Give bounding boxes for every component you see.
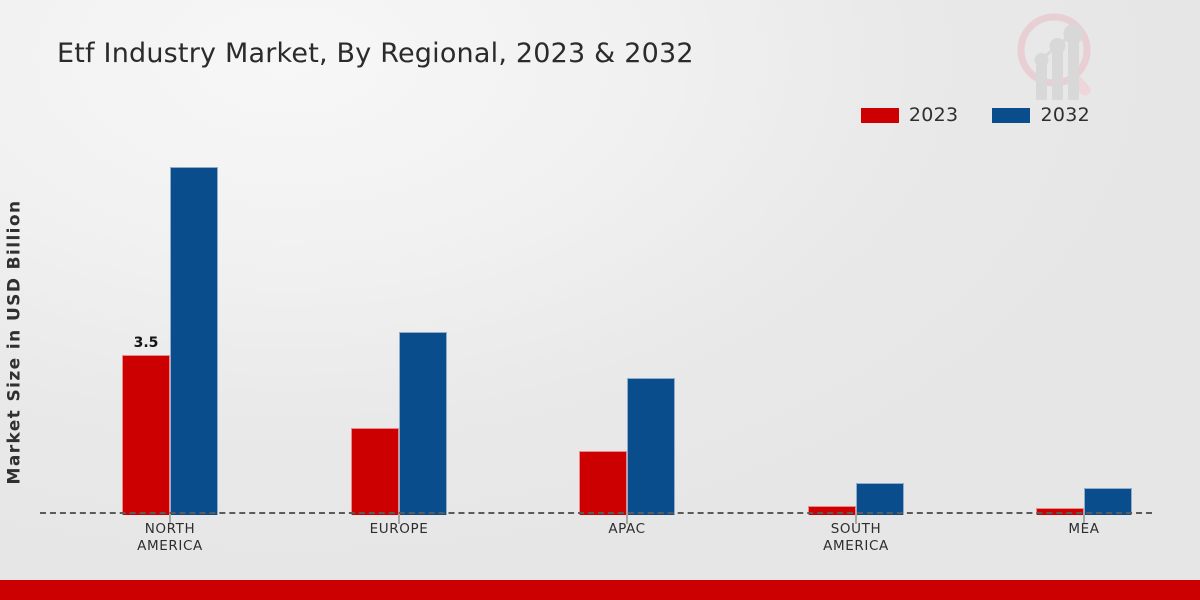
bar-group-bars bbox=[532, 140, 722, 515]
bar-group-apac bbox=[532, 140, 722, 515]
plot-area: 3.5 bbox=[40, 140, 1155, 515]
footer-accent-bar bbox=[0, 580, 1200, 600]
bar-group-mea bbox=[989, 140, 1179, 515]
x-axis-label-line: AMERICA bbox=[75, 538, 265, 555]
legend-item-2023[interactable]: 2023 bbox=[861, 104, 959, 126]
bar-2032-mea[interactable] bbox=[1084, 488, 1132, 515]
y-axis-title-text: Market Size in USD Billion bbox=[4, 200, 24, 485]
legend-swatch-2023 bbox=[861, 108, 899, 123]
x-axis-label-line: EUROPE bbox=[304, 521, 494, 538]
bar-2023-europe[interactable] bbox=[351, 428, 399, 515]
x-axis-label-line: SOUTH bbox=[761, 521, 951, 538]
x-axis-label-south-america: SOUTHAMERICA bbox=[761, 521, 951, 555]
legend-item-2032[interactable]: 2032 bbox=[992, 104, 1090, 126]
chart-legend: 2023 2032 bbox=[861, 104, 1090, 126]
bar-group-bars bbox=[761, 140, 951, 515]
bar-2023-apac[interactable] bbox=[579, 451, 627, 515]
chart-canvas: Etf Industry Market, By Regional, 2023 &… bbox=[0, 0, 1200, 600]
legend-label-2032: 2032 bbox=[1040, 104, 1090, 126]
x-axis-label-line: AMERICA bbox=[761, 538, 951, 555]
bar-2023-north-america[interactable]: 3.5 bbox=[122, 355, 170, 515]
y-axis-title: Market Size in USD Billion bbox=[0, 0, 31, 600]
bar-2032-europe[interactable] bbox=[399, 332, 447, 515]
bar-group-south-america bbox=[761, 140, 951, 515]
legend-swatch-2032 bbox=[992, 108, 1030, 123]
watermark-logo-icon bbox=[1004, 6, 1108, 104]
bar-2032-north-america[interactable] bbox=[170, 167, 218, 515]
bar-group-bars bbox=[989, 140, 1179, 515]
chart-title: Etf Industry Market, By Regional, 2023 &… bbox=[57, 38, 694, 69]
bar-2032-south-america[interactable] bbox=[856, 483, 904, 515]
x-axis-label-north-america: NORTHAMERICA bbox=[75, 521, 265, 555]
bar-group-bars: 3.5 bbox=[75, 140, 265, 515]
x-axis-label-apac: APAC bbox=[532, 521, 722, 538]
x-axis-label-line: APAC bbox=[532, 521, 722, 538]
legend-label-2023: 2023 bbox=[909, 104, 959, 126]
bar-group-bars bbox=[304, 140, 494, 515]
bar-2032-apac[interactable] bbox=[627, 378, 675, 515]
x-axis-label-line: NORTH bbox=[75, 521, 265, 538]
bar-value-label: 3.5 bbox=[134, 335, 159, 351]
x-axis-label-europe: EUROPE bbox=[304, 521, 494, 538]
x-axis-baseline bbox=[40, 512, 1152, 514]
bar-group-north-america: 3.5 bbox=[75, 140, 265, 515]
x-axis-label-mea: MEA bbox=[989, 521, 1179, 538]
bar-group-europe bbox=[304, 140, 494, 515]
x-axis-label-line: MEA bbox=[989, 521, 1179, 538]
